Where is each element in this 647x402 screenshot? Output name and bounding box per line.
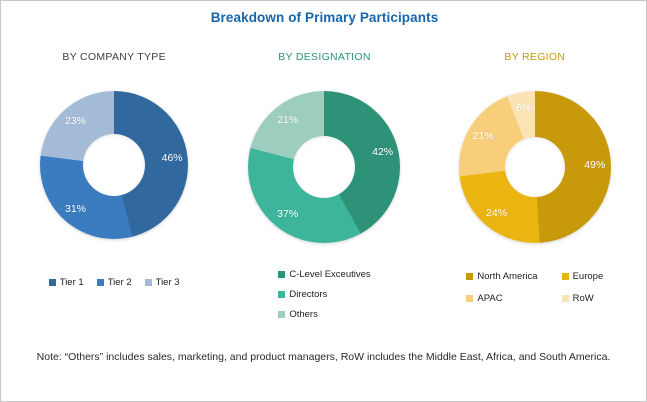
legend-swatch-icon (97, 279, 104, 286)
legend-label: C-Level Exceutives (289, 269, 370, 280)
legend-company-type: Tier 1Tier 2Tier 3 (9, 277, 219, 288)
legend-label: Others (289, 309, 318, 320)
chart-title-company-type: BY COMPANY TYPE (62, 51, 166, 67)
donut-hole (83, 134, 145, 196)
donut-region: 49%24%21%6% (459, 91, 611, 243)
legend-swatch-icon (145, 279, 152, 286)
legend-label: RoW (573, 293, 594, 304)
legend-item[interactable]: Europe (562, 271, 604, 282)
primary-participants-panel: Breakdown of Primary Participants BY COM… (0, 0, 647, 402)
segment-label: 23% (65, 115, 86, 127)
legend-item[interactable]: Directors (278, 289, 327, 300)
segment-label: 21% (473, 130, 494, 142)
legend-item[interactable]: RoW (562, 293, 604, 304)
segment-label: 21% (277, 114, 298, 126)
donut-company-type: 46%31%23% (40, 91, 188, 239)
legend-swatch-icon (278, 291, 285, 298)
legend-label: Tier 2 (108, 277, 132, 288)
segment-label: 6% (516, 102, 531, 114)
donut-ring: 49%24%21%6% (459, 91, 611, 243)
segment-label: 37% (277, 208, 298, 220)
segment-label: 31% (65, 203, 86, 215)
legend-swatch-icon (466, 295, 473, 302)
legend-swatch-icon (49, 279, 56, 286)
legend-label: North America (477, 271, 537, 282)
segment-label: 24% (486, 207, 507, 219)
legend-item[interactable]: Tier 3 (145, 277, 180, 288)
footer-note: Note: “Others” includes sales, marketing… (23, 344, 624, 370)
donut-ring: 46%31%23% (40, 91, 188, 239)
legend-swatch-icon (466, 273, 473, 280)
legend-label: Directors (289, 289, 327, 300)
legend-item[interactable]: Tier 2 (97, 277, 132, 288)
legend-item[interactable]: APAC (466, 293, 537, 304)
legend-item[interactable]: C-Level Exceutives (278, 269, 370, 280)
segment-label: 42% (372, 146, 393, 158)
chart-by-region: BY REGION 49%24%21%6% North AmericaEurop… (430, 51, 640, 321)
segment-label: 46% (162, 152, 183, 164)
legend-swatch-icon (562, 273, 569, 280)
segment-label: 49% (584, 159, 605, 171)
charts-row: BY COMPANY TYPE 46%31%23% Tier 1Tier 2Ti… (9, 51, 640, 321)
chart-by-designation: BY DESIGNATION 42%37%21% C-Level Exceuti… (219, 51, 429, 321)
chart-by-company-type: BY COMPANY TYPE 46%31%23% Tier 1Tier 2Ti… (9, 51, 219, 321)
legend-label: Tier 3 (156, 277, 180, 288)
legend-swatch-icon (278, 271, 285, 278)
legend-designation: C-Level ExceutivesDirectorsOthers (219, 269, 429, 320)
legend-item[interactable]: Others (278, 309, 318, 320)
legend-swatch-icon (562, 295, 569, 302)
chart-title-designation: BY DESIGNATION (278, 51, 371, 67)
legend-item[interactable]: Tier 1 (49, 277, 84, 288)
donut-hole (505, 137, 565, 197)
legend-region: North AmericaEuropeAPACRoW (430, 271, 640, 304)
legend-item[interactable]: North America (466, 271, 537, 282)
donut-designation: 42%37%21% (248, 91, 400, 243)
legend-label: Tier 1 (60, 277, 84, 288)
legend-label: APAC (477, 293, 502, 304)
donut-hole (293, 136, 355, 198)
legend-label: Europe (573, 271, 604, 282)
chart-title-region: BY REGION (504, 51, 565, 67)
page-title: Breakdown of Primary Participants (1, 10, 647, 25)
donut-ring: 42%37%21% (248, 91, 400, 243)
legend-swatch-icon (278, 311, 285, 318)
